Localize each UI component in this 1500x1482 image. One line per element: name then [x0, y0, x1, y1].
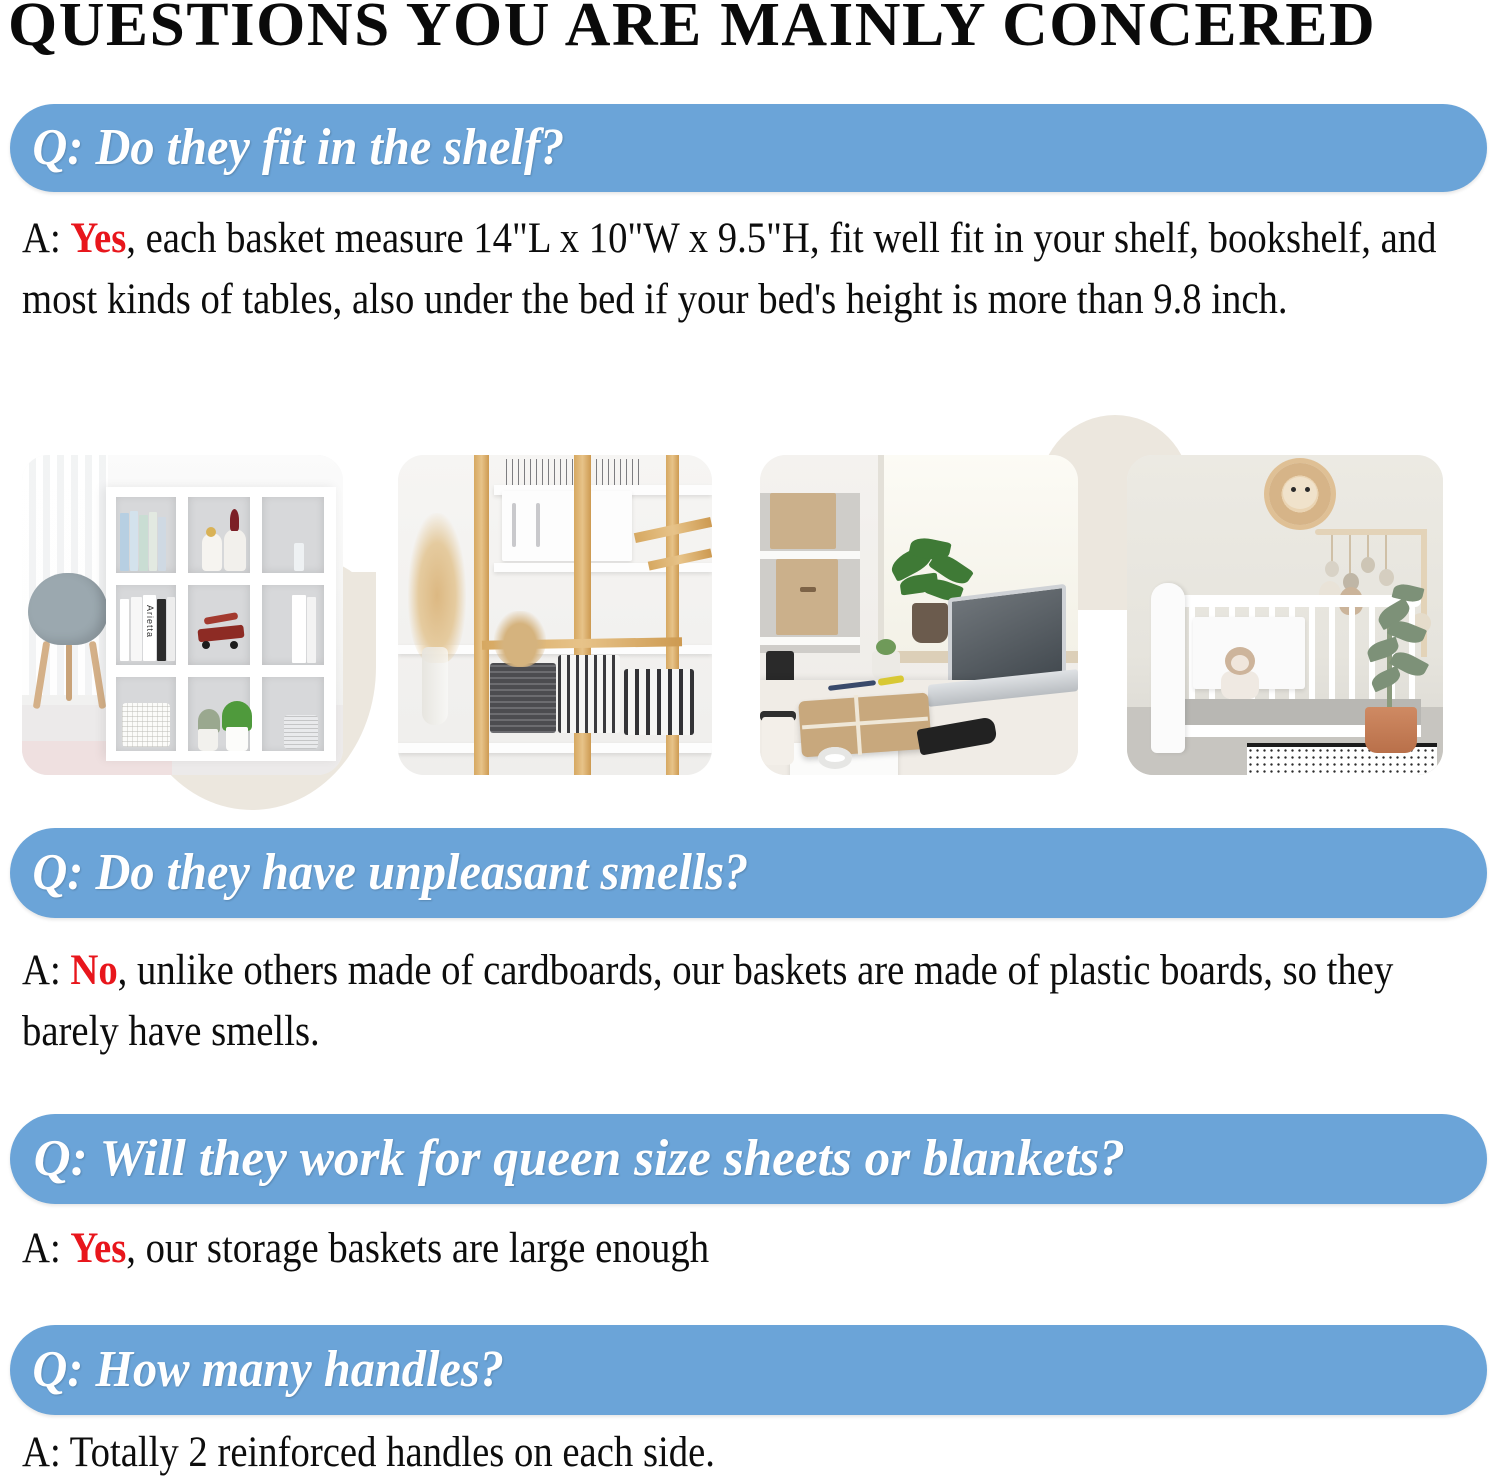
answer-rest-2: , unlike others made of cardboards, our …: [22, 947, 1393, 1055]
answer-text-1: A: Yes, each basket measure 14"L x 10"W …: [22, 208, 1498, 330]
gallery-image-home-office-desk[interactable]: [760, 455, 1078, 775]
question-text-1: Q: Do they fit in the shelf?: [10, 120, 564, 176]
answer-prefix-4: A: Totally 2 reinforced handles on each …: [22, 1429, 715, 1476]
answer-text-2: A: No, unlike others made of cardboards,…: [22, 940, 1480, 1062]
question-bar-1[interactable]: Q: Do they fit in the shelf?: [10, 104, 1487, 192]
answer-rest-3: , our storage baskets are large enough: [126, 1225, 709, 1272]
page-title: QUESTIONS YOU ARE MAINLY CONCERED: [8, 0, 1500, 62]
question-bar-2[interactable]: Q: Do they have unpleasant smells?: [10, 828, 1487, 918]
question-text-2: Q: Do they have unpleasant smells?: [10, 845, 748, 901]
gallery-image-white-cube-bookshelf[interactable]: Arietta: [22, 455, 343, 775]
answer-highlight-1: Yes: [70, 215, 126, 262]
faq-page: QUESTIONS YOU ARE MAINLY CONCERED Q: Do …: [0, 0, 1500, 1482]
answer-prefix-3: A:: [22, 1225, 70, 1272]
answer-highlight-2: No: [70, 947, 117, 994]
answer-rest-1: , each basket measure 14"L x 10"W x 9.5"…: [22, 215, 1436, 323]
answer-text-3: A: Yes, our storage baskets are large en…: [22, 1218, 1498, 1279]
gallery-image-bamboo-shelving-rack[interactable]: [398, 455, 712, 775]
answer-prefix-2: A:: [22, 947, 70, 994]
question-bar-3[interactable]: Q: Will they work for queen size sheets …: [10, 1114, 1487, 1204]
gallery-image-nursery-crib[interactable]: [1127, 455, 1443, 775]
question-bar-4[interactable]: Q: How many handles?: [10, 1325, 1487, 1415]
answer-prefix-1: A:: [22, 215, 70, 262]
question-text-3: Q: Will they work for queen size sheets …: [10, 1131, 1125, 1187]
answer-text-4: A: Totally 2 reinforced handles on each …: [22, 1422, 1498, 1482]
answer-highlight-3: Yes: [70, 1225, 126, 1272]
question-text-4: Q: How many handles?: [10, 1342, 504, 1398]
